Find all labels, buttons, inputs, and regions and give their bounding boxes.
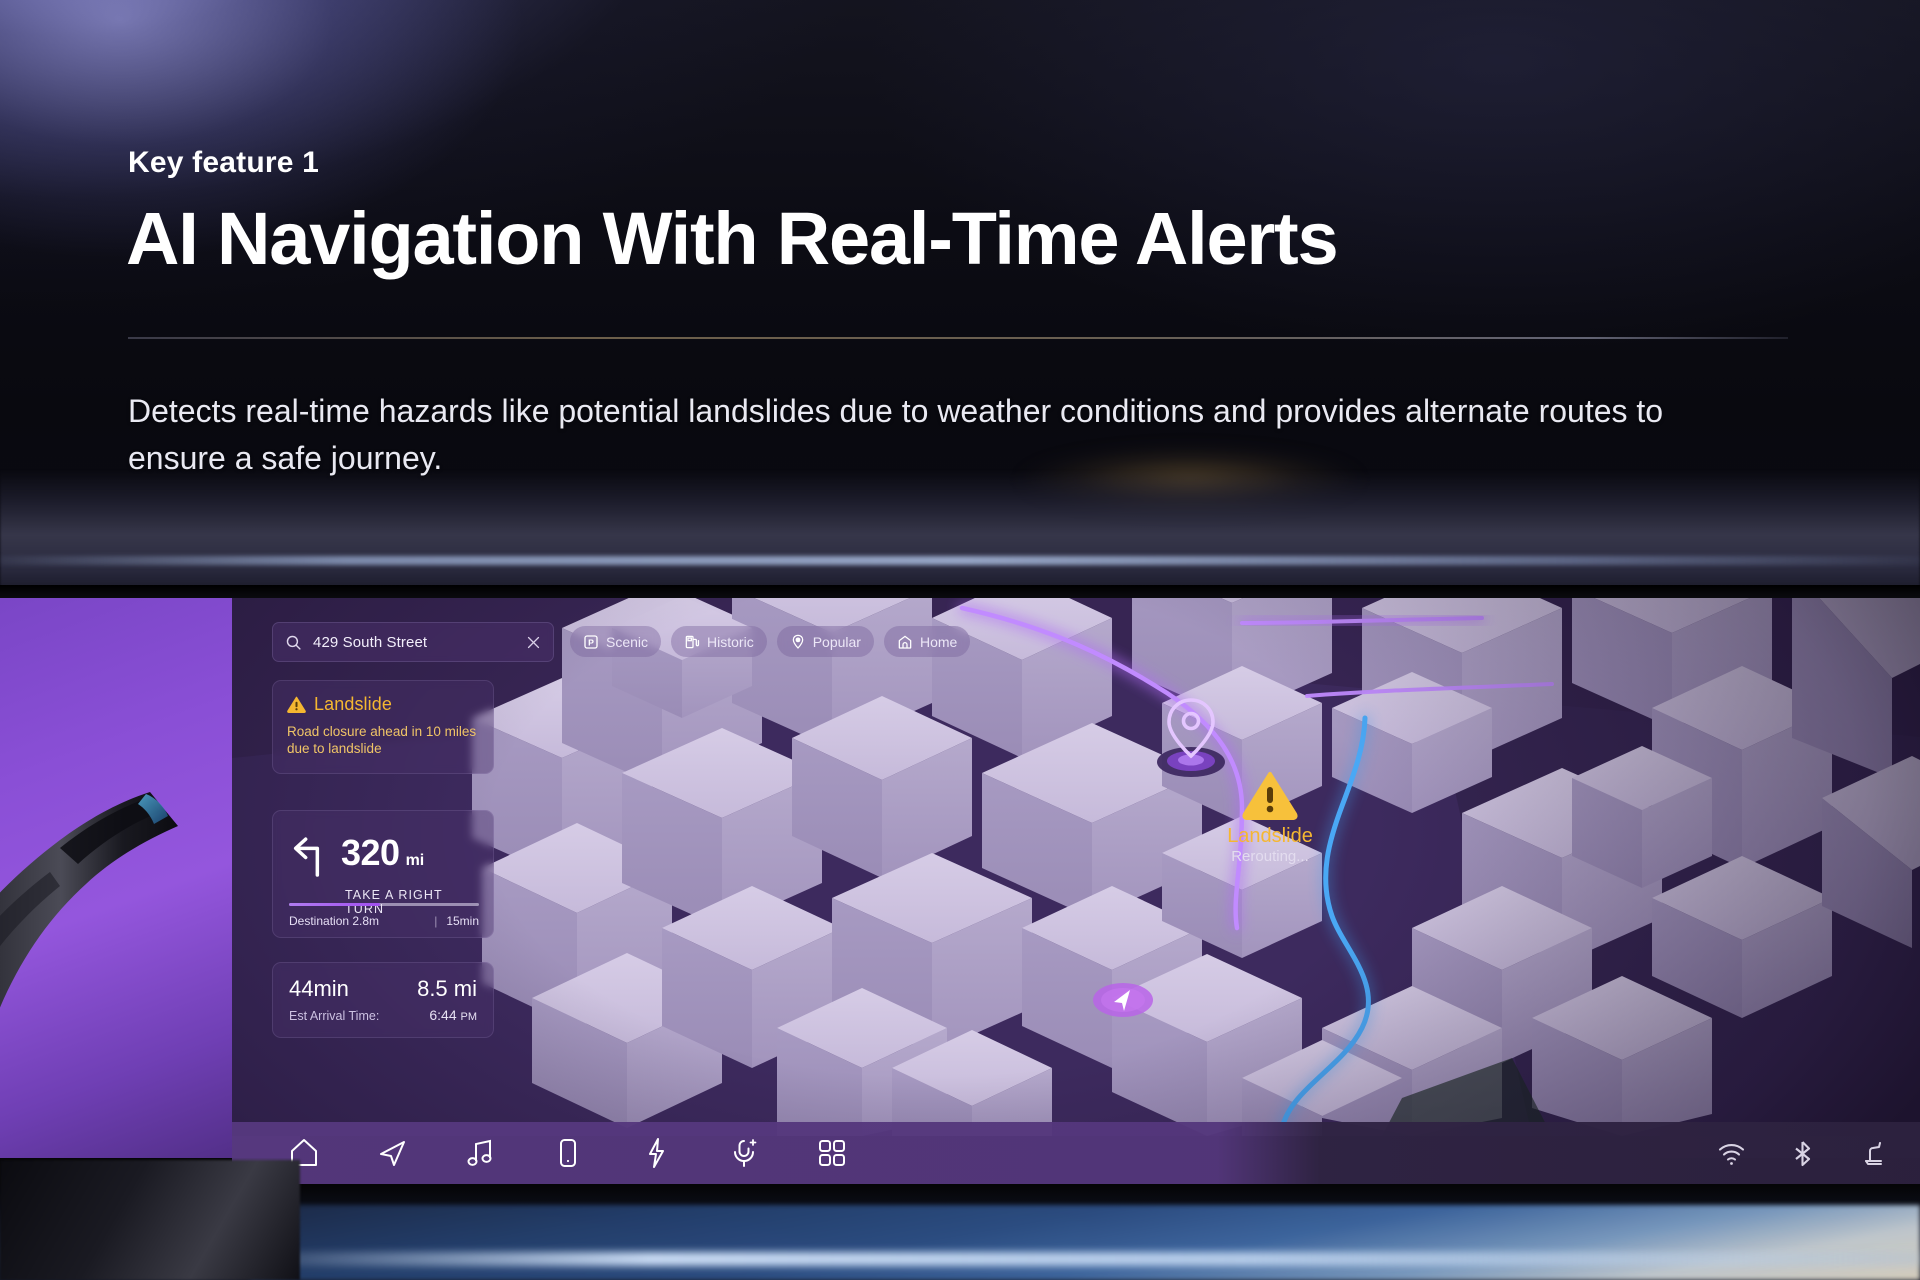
wifi-icon[interactable] xyxy=(1717,1139,1746,1168)
taskbar-charging-button[interactable] xyxy=(612,1122,700,1184)
taskbar-status-group xyxy=(1717,1139,1888,1168)
search-icon xyxy=(285,634,302,651)
eta-primary-row: 44min 8.5 mi xyxy=(289,976,477,1002)
apps-grid-icon xyxy=(815,1136,849,1170)
map-left-panel: 429 South Street Landslide Road closure … xyxy=(272,622,494,662)
landslide-alert-card[interactable]: Landslide Road closure ahead in 10 miles… xyxy=(272,680,494,774)
chip-label: Scenic xyxy=(606,634,648,650)
slide-stage: Key feature 1 AI Navigation With Real-Ti… xyxy=(0,0,1920,1280)
chip-label: Popular xyxy=(813,634,861,650)
chip-label: Home xyxy=(920,634,957,650)
turn-left-arrow-icon xyxy=(289,831,329,879)
map-hazard-marker[interactable]: Landslide Rerouting... xyxy=(1200,770,1340,865)
header-divider xyxy=(128,337,1788,339)
svg-text:P: P xyxy=(588,637,594,647)
page-title: AI Navigation With Real-Time Alerts xyxy=(126,200,1337,278)
hazard-status: Rerouting... xyxy=(1200,848,1340,865)
taskbar-navigation-button[interactable] xyxy=(348,1122,436,1184)
distance-readout: 320 mi xyxy=(341,835,424,871)
taskbar-assistant-button[interactable] xyxy=(700,1122,788,1184)
arrival-ampm: PM xyxy=(461,1011,478,1023)
vehicle-position-marker xyxy=(1092,980,1154,1025)
navigation-icon xyxy=(375,1136,409,1170)
home-icon xyxy=(897,634,913,650)
eta-summary-card[interactable]: 44min 8.5 mi Est Arrival Time: 6:44 PM xyxy=(272,962,494,1038)
phone-icon xyxy=(551,1136,585,1170)
route-footer: Destination 2.8m | 15min xyxy=(289,914,479,928)
interior-left-trim xyxy=(0,1160,300,1280)
eta-secondary-row: Est Arrival Time: 6:44 PM xyxy=(289,1007,477,1023)
distance-unit: mi xyxy=(406,852,425,870)
distance-value: 320 xyxy=(341,835,400,871)
search-input[interactable]: 429 South Street xyxy=(272,622,554,662)
alert-body: Road closure ahead in 10 miles due to la… xyxy=(287,723,479,758)
maneuver-row: 320 mi xyxy=(289,827,477,879)
chip-historic[interactable]: Historic xyxy=(671,626,767,657)
dashboard-highlight-edge xyxy=(0,556,1920,565)
chip-label: Historic xyxy=(707,634,754,650)
taskbar-phone-button[interactable] xyxy=(524,1122,612,1184)
charging-icon xyxy=(639,1136,673,1170)
trip-duration: 44min xyxy=(289,976,349,1002)
alert-header: Landslide xyxy=(287,694,479,715)
taskbar-apps-button[interactable] xyxy=(788,1122,876,1184)
destination-distance: Destination 2.8m xyxy=(289,914,425,928)
voice-assistant-icon xyxy=(727,1136,761,1170)
music-icon xyxy=(463,1136,497,1170)
arrival-time: 6:44 PM xyxy=(429,1007,477,1023)
fuel-pump-icon xyxy=(684,634,700,650)
chip-popular[interactable]: Popular xyxy=(777,626,874,657)
chip-scenic[interactable]: P Scenic xyxy=(570,626,661,657)
map-pin-icon xyxy=(790,634,806,650)
feature-description: Detects real-time hazards like potential… xyxy=(128,388,1748,481)
dashboard-light-reflection xyxy=(250,1252,1920,1266)
navigation-instruction-card[interactable]: 320 mi TAKE A RIGHT TURN Destination 2.8… xyxy=(272,810,494,938)
taskbar-music-button[interactable] xyxy=(436,1122,524,1184)
destination-eta: 15min xyxy=(446,914,479,928)
warning-triangle-icon xyxy=(1242,770,1298,820)
system-taskbar xyxy=(232,1122,1920,1184)
bluetooth-icon[interactable] xyxy=(1788,1139,1817,1168)
route-progress-bar xyxy=(289,903,479,906)
footer-separator: | xyxy=(434,914,437,928)
search-value: 429 South Street xyxy=(313,634,526,651)
route-progress-fill xyxy=(289,903,380,906)
chip-home[interactable]: Home xyxy=(884,626,970,657)
seat-heater-icon[interactable] xyxy=(1859,1139,1888,1168)
warning-triangle-icon xyxy=(287,696,306,713)
dashboard-ambient-strip xyxy=(250,1205,1920,1280)
close-icon[interactable] xyxy=(526,635,541,650)
hazard-title: Landslide xyxy=(1200,825,1340,848)
feature-kicker: Key feature 1 xyxy=(128,146,319,180)
arrival-label: Est Arrival Time: xyxy=(289,1009,379,1023)
trip-distance: 8.5 mi xyxy=(417,976,477,1002)
maneuver-instruction: TAKE A RIGHT TURN xyxy=(345,888,477,916)
parking-icon: P xyxy=(583,634,599,650)
alert-title: Landslide xyxy=(314,694,392,715)
map-filter-chips: P Scenic Historic Popular Home xyxy=(570,626,970,657)
taskbar-left-group xyxy=(260,1122,876,1184)
